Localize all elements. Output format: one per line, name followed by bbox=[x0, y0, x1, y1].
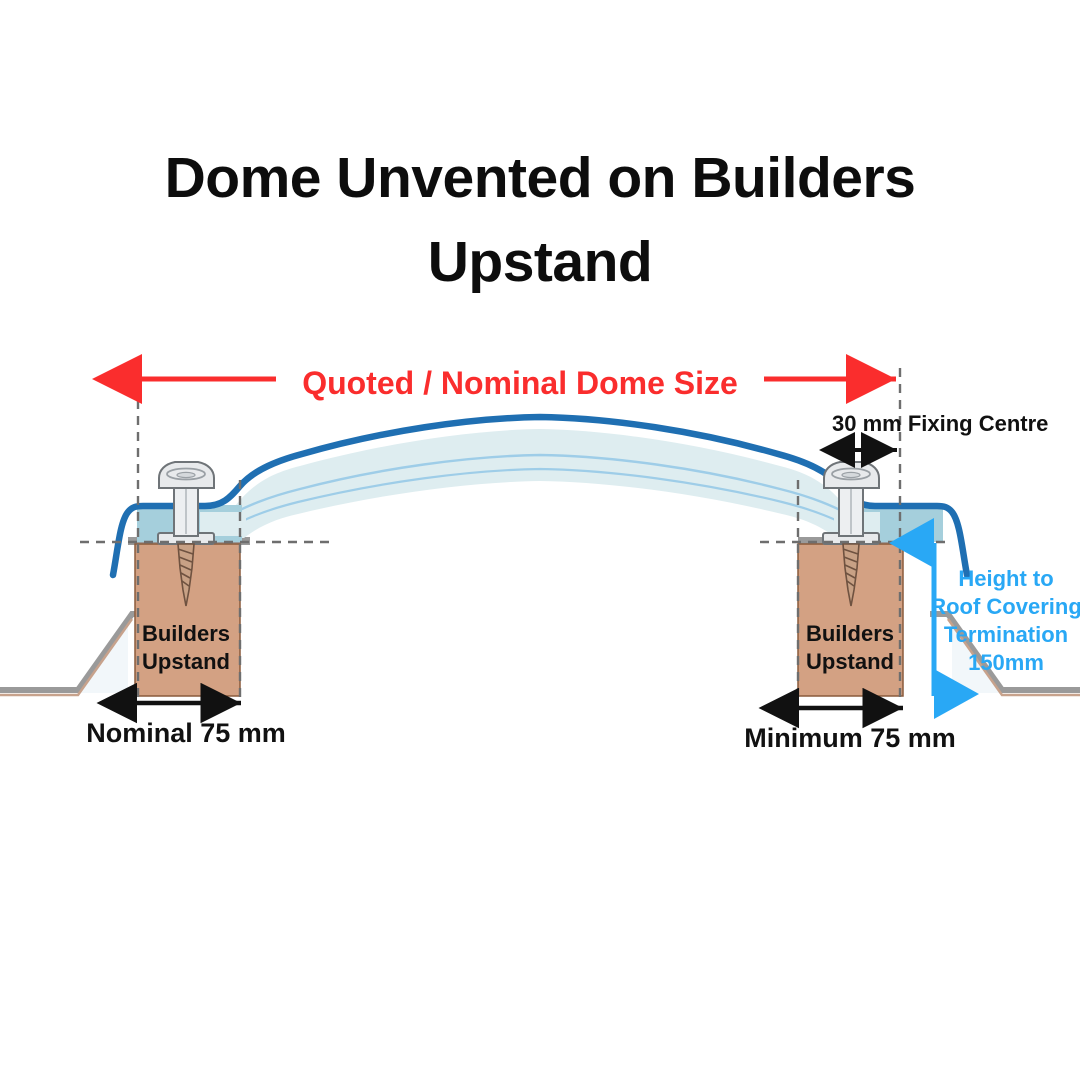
upstand-left-line-2: Upstand bbox=[142, 649, 230, 674]
fixing-centre-label: 30 mm Fixing Centre bbox=[832, 411, 1048, 436]
roof-insulation-wedge-left bbox=[0, 618, 128, 693]
screw-head-slot-left bbox=[177, 472, 195, 477]
nominal-75-label: Nominal 75 mm bbox=[86, 718, 286, 748]
dimension-fixing-centre: 30 mm Fixing Centre bbox=[832, 411, 1048, 450]
height-termination-line-4: 150mm bbox=[968, 650, 1044, 675]
dimension-dome-size: Quoted / Nominal Dome Size bbox=[142, 358, 896, 401]
diagram-canvas: Dome Unvented on Builders Upstand bbox=[0, 0, 1080, 1080]
upstand-right-line-1: Builders bbox=[806, 621, 894, 646]
height-termination-line-3: Termination bbox=[944, 622, 1068, 647]
upstand-right-line-2: Upstand bbox=[806, 649, 894, 674]
minimum-75-label: Minimum 75 mm bbox=[744, 723, 956, 753]
dimension-nominal-75: Nominal 75 mm bbox=[86, 703, 286, 748]
dome-size-label: Quoted / Nominal Dome Size bbox=[302, 365, 738, 401]
dimension-minimum-75: Minimum 75 mm bbox=[744, 708, 956, 753]
dome-skin-fill bbox=[205, 429, 875, 538]
height-termination-line-1: Height to bbox=[958, 566, 1053, 591]
height-termination-line-2: Roof Covering bbox=[930, 594, 1080, 619]
screw-head-slot-right bbox=[842, 472, 860, 477]
dome-glazing-unit bbox=[205, 429, 875, 538]
upstand-left-line-1: Builders bbox=[142, 621, 230, 646]
dome-upstand-technical-drawing: Quoted / Nominal Dome Size 30 mm Fixing … bbox=[0, 0, 1080, 1080]
